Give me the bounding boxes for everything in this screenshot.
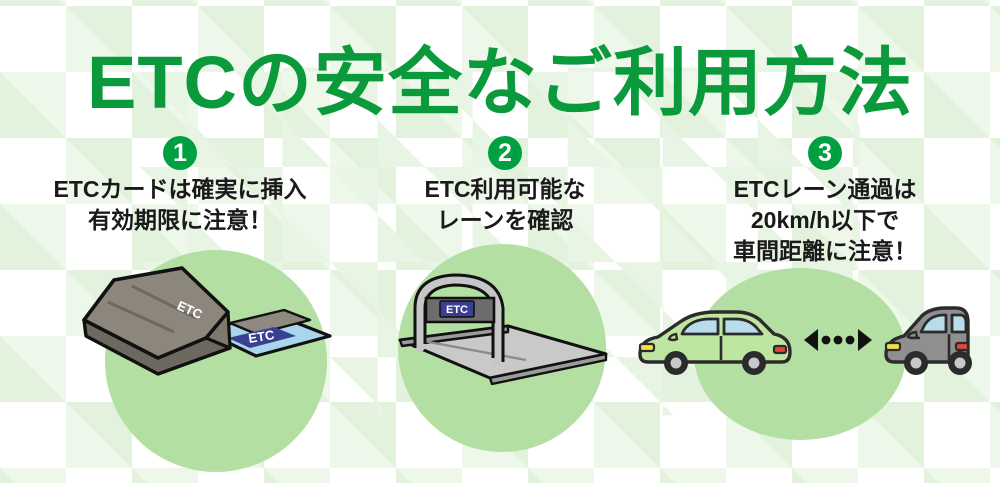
front-car-icon [640, 312, 790, 375]
step-3-caption-line-1: ETCレーン通過は [733, 174, 917, 205]
arrow-left-head [804, 329, 818, 351]
step-1-caption-line-2: 有効期限に注意！ [54, 205, 307, 236]
step-3-caption-line-2: 20km/h以下で [733, 205, 917, 236]
arrow-right-head [858, 329, 872, 351]
gantry-etc-sign-label: ETC [446, 304, 468, 316]
rear-van-taillight [956, 343, 968, 350]
arrow-dot-1 [822, 336, 831, 345]
etc-onboard-unit-illustration: ETC ETC [78, 262, 338, 392]
step-3-caption-line-3: 車間距離に注意！ [733, 236, 917, 267]
page-title: ETCの安全なご利用方法 [0, 40, 1000, 126]
rear-van-window-rear [952, 315, 966, 332]
vehicle-distance-illustration [632, 296, 972, 396]
etc-lane-gantry-illustration: ETC [398, 268, 608, 398]
step-3-number-badge: 3 [808, 136, 842, 170]
step-1-caption: ETCカードは確実に挿入 有効期限に注意！ [54, 174, 307, 236]
step-1-caption-line-1: ETCカードは確実に挿入 [54, 174, 307, 205]
rear-van-icon [886, 308, 972, 375]
step-2-caption: ETC利用可能な レーンを確認 [425, 174, 586, 236]
step-1-number-badge: 1 [163, 136, 197, 170]
step-2-caption-line-1: ETC利用可能な [425, 174, 586, 205]
step-2-caption-line-2: レーンを確認 [425, 205, 586, 236]
etc-safety-infographic: ETCの安全なご利用方法 1 ETCカードは確実に挿入 有効期限に注意！ 2 E… [0, 0, 1000, 483]
arrow-dot-3 [846, 336, 855, 345]
rear-van-headlight [886, 343, 900, 350]
arrow-dot-2 [834, 336, 843, 345]
step-3-caption: ETCレーン通過は 20km/h以下で 車間距離に注意！ [733, 174, 917, 267]
front-car-headlight [640, 344, 654, 351]
step-2-number-badge: 2 [488, 136, 522, 170]
front-car-taillight [774, 346, 786, 353]
following-distance-arrow-icon [804, 329, 872, 351]
